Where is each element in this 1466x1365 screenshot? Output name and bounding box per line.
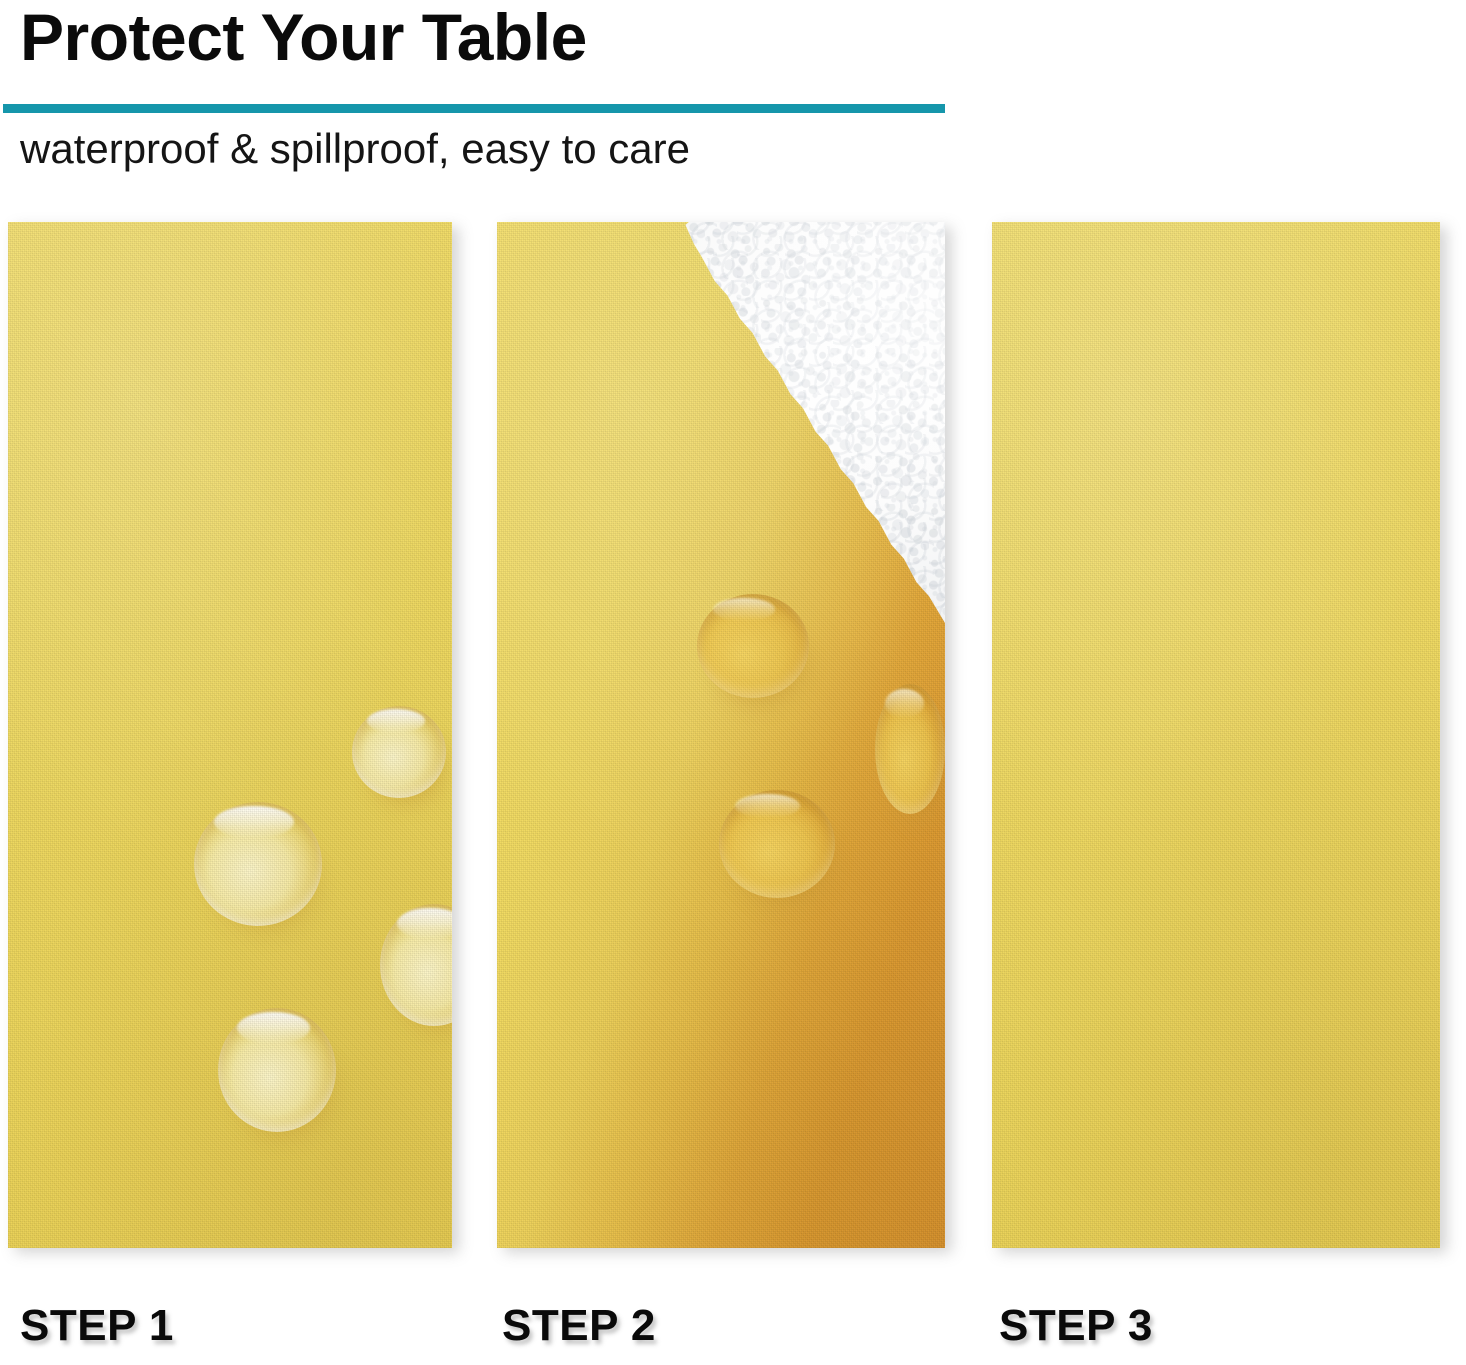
panel-row (0, 222, 1466, 1248)
water-droplet (697, 594, 809, 698)
panel-step-3 (992, 222, 1440, 1248)
page-title: Protect Your Table (20, 4, 587, 70)
water-droplet (352, 706, 446, 798)
page-subtitle: waterproof & spillproof, easy to care (20, 124, 690, 174)
panel-step-2 (497, 222, 945, 1248)
water-droplet (719, 790, 835, 898)
title-divider-rule (3, 104, 945, 113)
fabric-surface-3 (992, 222, 1440, 1248)
step-label-1: STEP 1 (20, 1298, 174, 1353)
step-label-2: STEP 2 (502, 1298, 656, 1353)
water-droplet (194, 802, 322, 926)
header: Protect Your Table waterproof & spillpro… (0, 0, 1466, 200)
step-label-row: STEP 1 STEP 2 STEP 3 (0, 1298, 1466, 1365)
panel-step-1 (8, 222, 452, 1248)
water-droplet (218, 1008, 336, 1132)
water-droplet (875, 684, 945, 814)
step-label-3: STEP 3 (999, 1298, 1153, 1353)
